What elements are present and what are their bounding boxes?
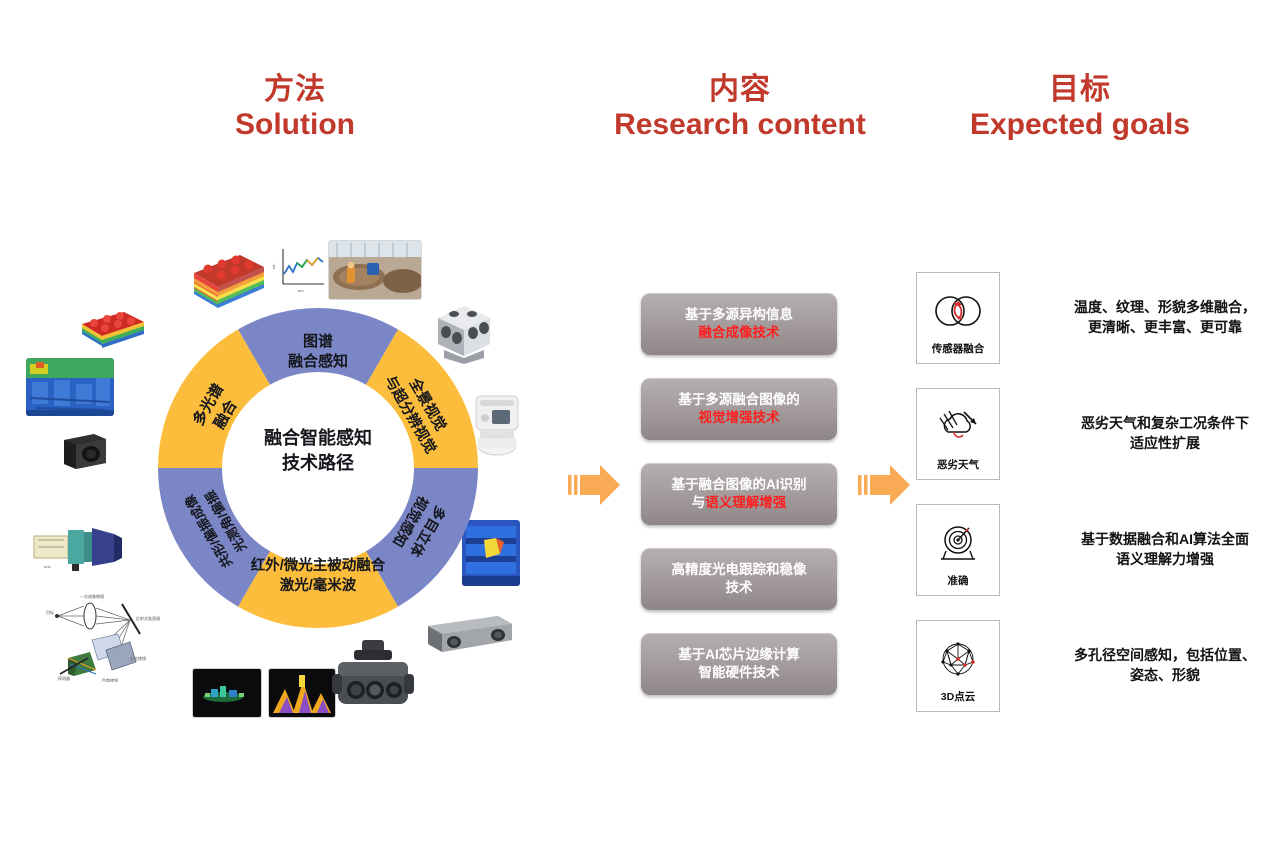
goal-icon-box-3: 准确: [916, 504, 1000, 596]
goal-text-2-line1: 恶劣天气和复杂工况条件下: [1040, 414, 1268, 434]
goal-row-3: 准确 基于数据融合和AI算法全面 语义理解力增强: [916, 504, 1268, 596]
solution-donut-diagram: 图谱 融合感知 全景视觉 与超分辨视觉 多目立体 视觉感知 激光/毫米波 红外/…: [148, 298, 488, 638]
research-content-box-5-line2: 智能硬件技术: [678, 664, 800, 682]
research-content-box-2-line2: 视觉增强技术: [678, 409, 800, 427]
arrow-content-to-goals: [856, 461, 914, 514]
column-header-content-en: Research content: [590, 107, 890, 142]
target-accuracy-icon: [934, 513, 982, 573]
svg-text:Int.: Int.: [272, 263, 276, 269]
research-content-box-3-line2: 语义理解增强: [705, 495, 786, 510]
goal-icon-caption-1: 传感器融合: [932, 341, 985, 356]
goal-text-4: 多孔径空间感知，包括位置、 姿态、形貌: [1040, 646, 1268, 686]
donut-center-line2: 技术路径: [230, 451, 406, 476]
donut-label-top-line1: 图谱: [303, 332, 333, 350]
point-cloud-icon: [935, 629, 981, 689]
column-header-solution-en: Solution: [160, 107, 430, 142]
research-content-box-5[interactable]: 基于AI芯片边缘计算 智能硬件技术: [641, 633, 837, 695]
research-content-box-3-line2-prefix: 与: [692, 495, 706, 510]
sensor-fusion-icon: [931, 281, 985, 341]
research-content-box-3-line1: 基于融合图像的AI识别: [672, 476, 807, 494]
optical-module-thumb: unit: [30, 520, 126, 576]
goal-icon-caption-2: 恶劣天气: [937, 457, 979, 472]
goal-text-1-line2: 更清晰、更丰富、更可靠: [1040, 318, 1268, 338]
fruit-spectral-stack-thumb: [78, 310, 146, 352]
goal-text-1: 温度、纹理、形貌多维融合， 更清晰、更丰富、更可靠: [1040, 298, 1268, 338]
goal-icon-box-1: 传感器融合: [916, 272, 1000, 364]
donut-center-line1: 融合智能感知: [230, 426, 406, 451]
goal-text-4-line1: 多孔径空间感知，包括位置、: [1040, 646, 1268, 666]
column-header-solution: 方法 Solution: [160, 72, 430, 143]
column-header-goals-cn: 目标: [930, 72, 1230, 107]
column-header-goals-en: Expected goals: [930, 107, 1230, 142]
donut-label-top-line2: 融合感知: [288, 352, 348, 370]
research-content-box-4[interactable]: 高精度光电跟踪和稳像 技术: [641, 548, 837, 610]
goal-text-1-line1: 温度、纹理、形貌多维融合，: [1040, 298, 1268, 318]
arrow-solution-to-content: [566, 461, 624, 514]
goal-icon-caption-4: 3D点云: [941, 689, 975, 704]
goal-row-4: 3D点云 多孔径空间感知，包括位置、 姿态、形貌: [916, 620, 1268, 712]
research-content-box-4-line2: 技术: [672, 579, 807, 597]
spectrum-plot-thumb: Int. nm: [272, 243, 330, 295]
goal-text-3: 基于数据融合和AI算法全面 语义理解力增强: [1040, 530, 1268, 570]
donut-label-bottom-line1: 激光/毫米波: [280, 576, 357, 594]
bad-weather-icon: [934, 397, 982, 457]
research-content-box-1-line2: 融合成像技术: [685, 324, 793, 342]
goal-text-4-line2: 姿态、形貌: [1040, 666, 1268, 686]
column-header-goals: 目标 Expected goals: [930, 72, 1230, 143]
research-content-box-2-line1: 基于多源融合图像的: [678, 391, 800, 409]
research-content-box-3[interactable]: 基于融合图像的AI识别 与语义理解增强: [641, 463, 837, 525]
column-header-content-cn: 内容: [590, 72, 890, 107]
svg-text:nm: nm: [298, 288, 304, 293]
svg-text:探测器: 探测器: [58, 675, 70, 681]
goal-row-1: 传感器融合 温度、纹理、形貌多维融合， 更清晰、更丰富、更可靠: [916, 272, 1268, 364]
goal-row-2: 恶劣天气 恶劣天气和复杂工况条件下 适应性扩展: [916, 388, 1268, 480]
lidar-point-cloud-thumb: [192, 668, 262, 718]
svg-text:unit: unit: [44, 564, 51, 569]
svg-text:目标: 目标: [46, 609, 54, 615]
research-content-box-1-line1: 基于多源异构信息: [685, 306, 793, 324]
svg-text:分光棱镜: 分光棱镜: [130, 655, 146, 661]
goal-icon-box-2: 恶劣天气: [916, 388, 1000, 480]
goal-text-2-line2: 适应性扩展: [1040, 434, 1268, 454]
goal-icon-box-4: 3D点云: [916, 620, 1000, 712]
thermal-scene-thumb: [26, 358, 114, 416]
lowlight-fusion-thumb: [268, 668, 336, 718]
donut-center-title: 融合智能感知 技术路径: [230, 426, 406, 476]
svg-text:色散棱镜: 色散棱镜: [102, 677, 118, 682]
column-header-content: 内容 Research content: [590, 72, 890, 143]
column-header-solution-cn: 方法: [160, 72, 430, 107]
svg-text:一次成像物镜: 一次成像物镜: [80, 593, 104, 599]
goal-text-2: 恶劣天气和复杂工况条件下 适应性扩展: [1040, 414, 1268, 454]
goal-text-3-line2: 语义理解力增强: [1040, 550, 1268, 570]
research-content-box-1[interactable]: 基于多源异构信息 融合成像技术: [641, 293, 837, 355]
goal-icon-caption-3: 准确: [948, 573, 969, 588]
research-content-box-2[interactable]: 基于多源融合图像的 视觉增强技术: [641, 378, 837, 440]
goal-text-3-line1: 基于数据融合和AI算法全面: [1040, 530, 1268, 550]
industrial-pipe-photo-thumb: [328, 240, 422, 300]
eo-turret-thumb: [330, 638, 416, 720]
donut-label-bottom-line2: 红外/微光主被动融合: [251, 556, 386, 574]
research-content-box-4-line1: 高精度光电跟踪和稳像: [672, 561, 807, 579]
compact-camera-thumb: [58, 430, 110, 472]
research-content-box-5-line1: 基于AI芯片边缘计算: [678, 646, 800, 664]
